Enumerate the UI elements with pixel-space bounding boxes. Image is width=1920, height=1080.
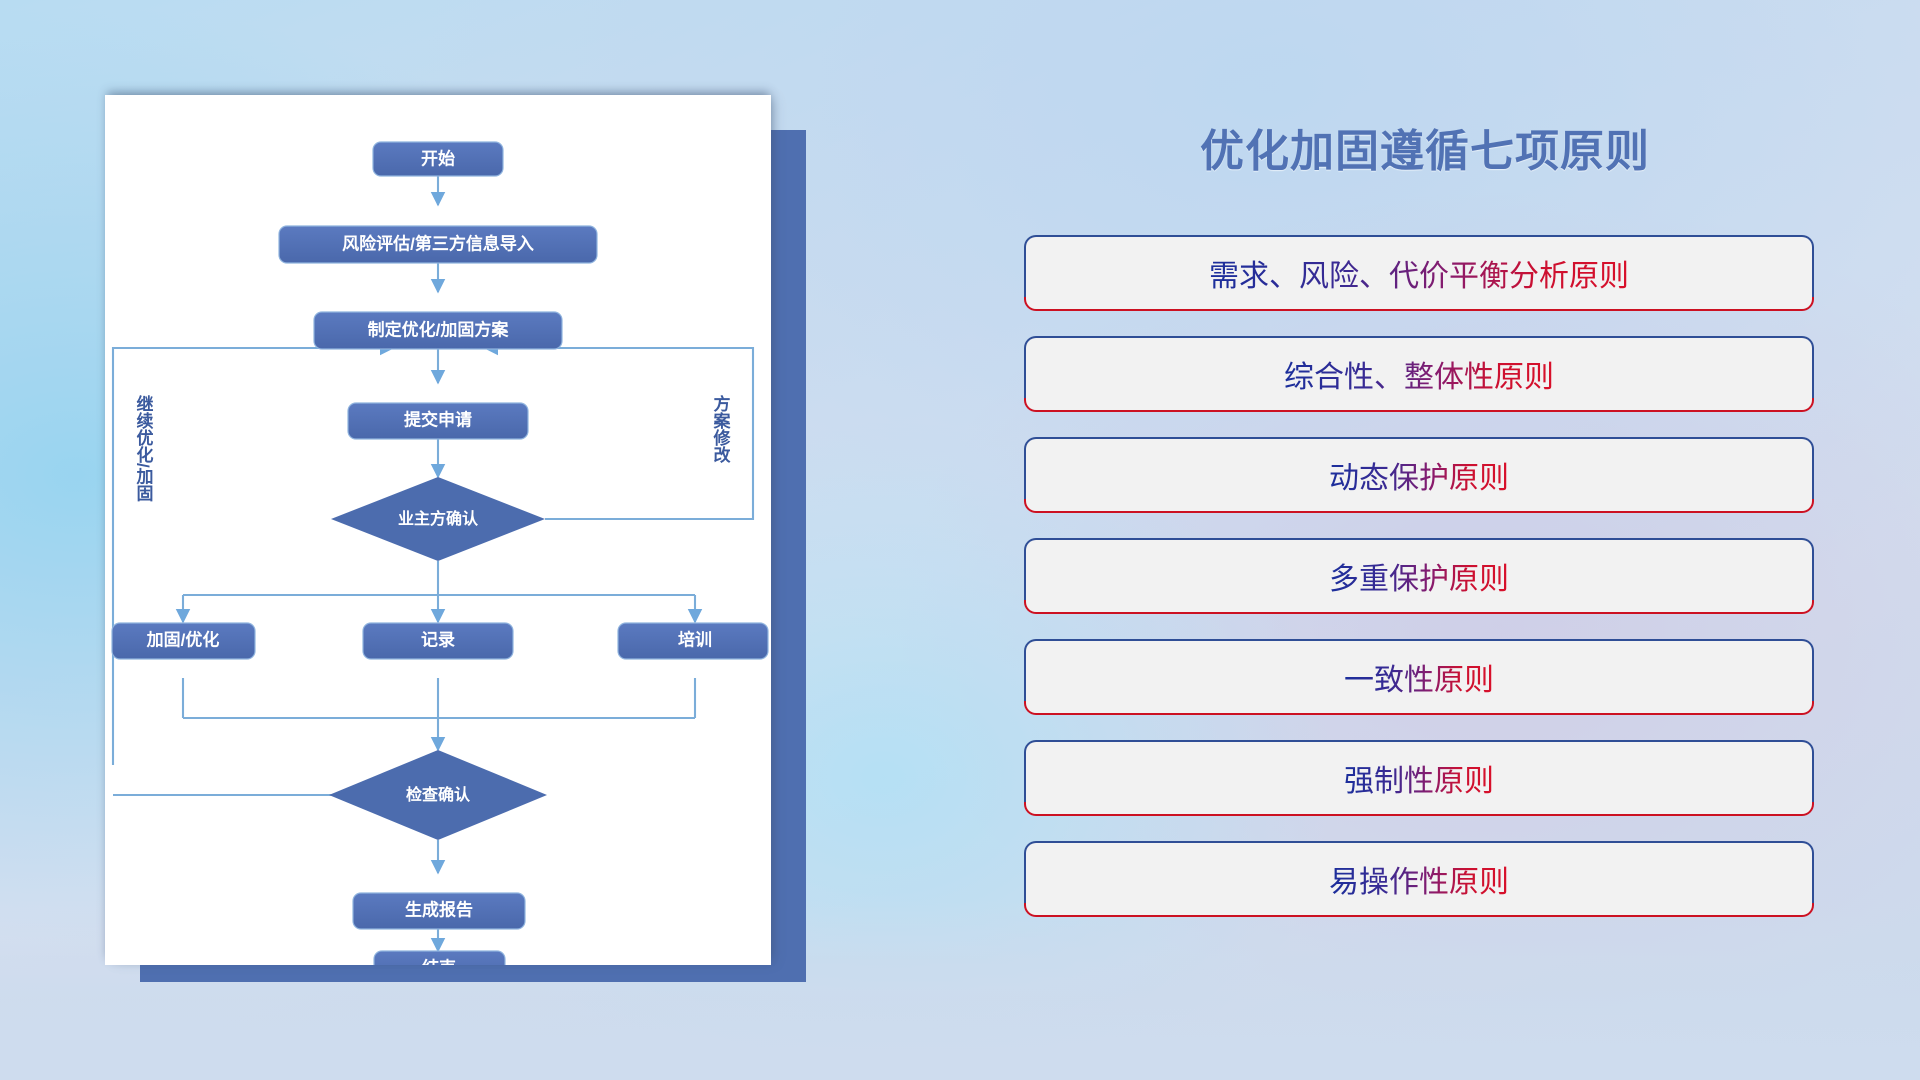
principle-card-7[interactable]: 易操作性原则	[1024, 841, 1814, 915]
flowchart-card: 继续优化/加固 方案修改 开始 风险评估/第三方信息导入 制定优化/加固方案 提…	[105, 95, 771, 965]
principle-label-1: 需求、风险、代价平衡分析原则	[1209, 251, 1629, 295]
flow-node-report-label: 生成报告	[405, 899, 473, 919]
page-title: 优化加固遵循七项原则	[1020, 115, 1830, 179]
flow-node-owner-confirm[interactable]: 业主方确认	[331, 477, 545, 561]
principles-list: 需求、风险、代价平衡分析原则 综合性、整体性原则 动态保护原则 多重保护原则 一…	[1024, 235, 1814, 942]
flow-node-record[interactable]: 记录	[363, 623, 513, 659]
edge-label-left-loop: 继续优化/加固	[134, 394, 155, 503]
principle-card-4[interactable]: 多重保护原则	[1024, 538, 1814, 612]
flow-node-reinforce[interactable]: 加固/优化	[112, 623, 255, 659]
flow-node-risk-assessment-label: 风险评估/第三方信息导入	[342, 233, 534, 253]
flow-node-reinforce-label: 加固/优化	[146, 629, 220, 649]
flowchart-diagram: 继续优化/加固 方案修改 开始 风险评估/第三方信息导入 制定优化/加固方案 提…	[105, 95, 771, 965]
principle-label-4: 多重保护原则	[1329, 554, 1509, 598]
flow-node-start-label: 开始	[421, 148, 455, 168]
principle-label-3: 动态保护原则	[1329, 453, 1509, 497]
principle-label-5: 一致性原则	[1344, 655, 1494, 699]
flow-node-report[interactable]: 生成报告	[353, 893, 525, 929]
principle-card-6[interactable]: 强制性原则	[1024, 740, 1814, 814]
flow-node-risk-assessment[interactable]: 风险评估/第三方信息导入	[279, 226, 597, 263]
flow-node-owner-confirm-label: 业主方确认	[398, 509, 479, 528]
principles-panel: 优化加固遵循七项原则 需求、风险、代价平衡分析原则 综合性、整体性原则 动态保护…	[1020, 95, 1830, 995]
flow-node-plan-label: 制定优化/加固方案	[368, 319, 510, 339]
edge-label-right-loop: 方案修改	[711, 394, 732, 464]
principle-card-5[interactable]: 一致性原则	[1024, 639, 1814, 713]
flow-node-start[interactable]: 开始	[373, 142, 503, 176]
principle-label-6: 强制性原则	[1344, 756, 1494, 800]
flow-node-training-label: 培训	[678, 629, 712, 649]
flow-node-end-label: 结束	[422, 957, 456, 965]
principle-card-2[interactable]: 综合性、整体性原则	[1024, 336, 1814, 410]
flow-node-submit[interactable]: 提交申请	[348, 403, 528, 439]
flow-node-plan[interactable]: 制定优化/加固方案	[314, 312, 562, 349]
flow-node-submit-label: 提交申请	[404, 409, 472, 429]
principle-label-2: 综合性、整体性原则	[1284, 352, 1554, 396]
flow-node-training[interactable]: 培训	[618, 623, 768, 659]
flow-node-end[interactable]: 结束	[374, 951, 505, 965]
principle-card-1[interactable]: 需求、风险、代价平衡分析原则	[1024, 235, 1814, 309]
flow-node-check-confirm[interactable]: 检查确认	[329, 750, 547, 840]
flow-node-record-label: 记录	[421, 630, 455, 649]
principle-label-7: 易操作性原则	[1329, 857, 1509, 901]
principle-card-3[interactable]: 动态保护原则	[1024, 437, 1814, 511]
flow-node-check-confirm-label: 检查确认	[406, 785, 471, 804]
